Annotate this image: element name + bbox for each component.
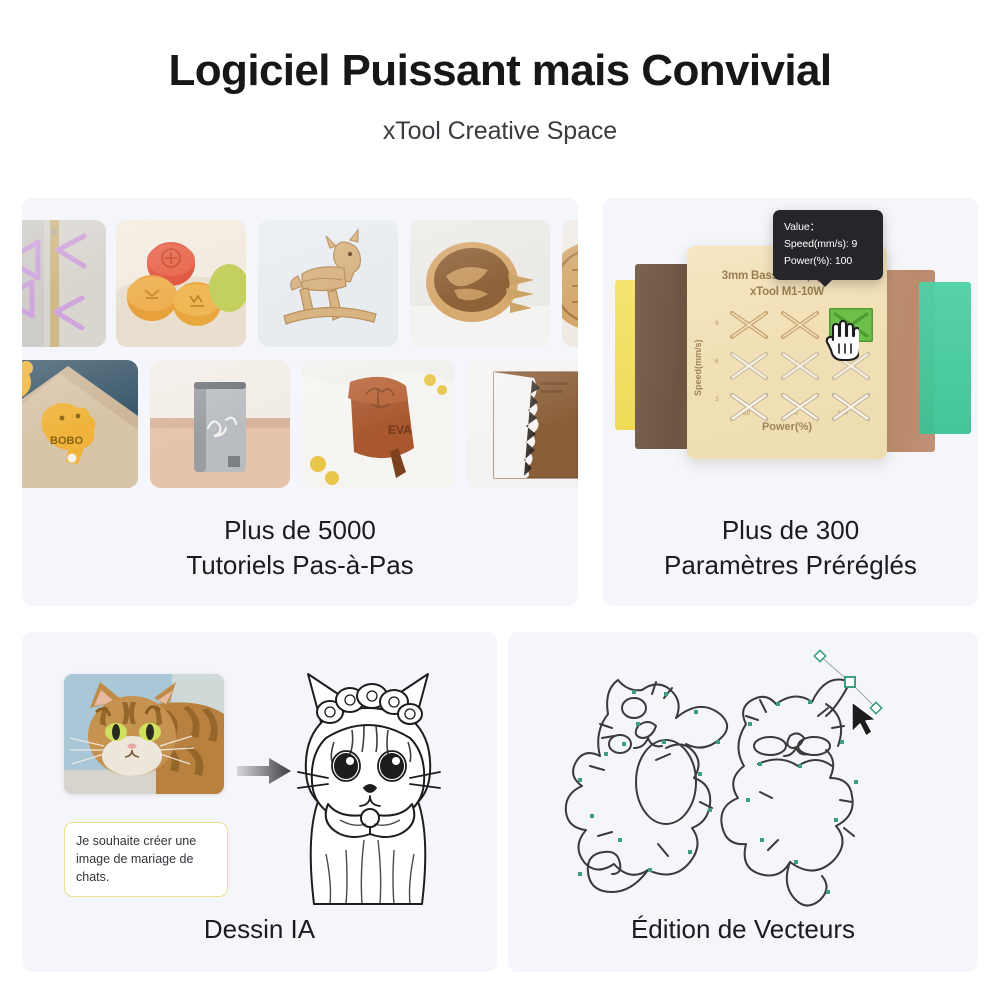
grid-cell-r1c0[interactable] — [727, 349, 771, 383]
tutorials-caption: Plus de 5000 Tutoriels Pas-à-Pas — [22, 513, 578, 582]
board-y-axis-label: Speed(mm/s) — [693, 339, 703, 396]
card-vector-editing[interactable]: Édition de Vecteurs — [508, 632, 978, 972]
board-material-line2: xTool M1-10W — [687, 284, 887, 300]
card-tutorials[interactable]: BOBO — [22, 198, 578, 606]
thumbnail-engraved-metal-lighter[interactable] — [150, 360, 290, 488]
x-pattern-icon — [727, 390, 771, 424]
presets-caption: Plus de 300 Paramètres Préréglés — [603, 513, 978, 582]
thumbnail-wooden-rocking-horse[interactable] — [258, 220, 398, 347]
tooltip-arrow-icon — [817, 279, 833, 287]
presets-caption-line2: Paramètres Préréglés — [603, 548, 978, 582]
card-ai-drawing[interactable]: Je souhaite créer une image de mariage d… — [22, 632, 497, 972]
grid-cell-r2c2[interactable] — [829, 390, 873, 424]
grid-cell-r0c1[interactable] — [778, 308, 822, 342]
feature-card-grid: BOBO — [0, 0, 1000, 1000]
tooltip-power-value: Power(%): 100 — [784, 253, 873, 270]
bezier-anchor-point[interactable] — [845, 677, 855, 687]
thumbnail-yellow-leather-dog-bobo[interactable]: BOBO — [22, 360, 138, 488]
tabby-cat-photo-image — [64, 674, 224, 794]
tutorial-thumbnail-mosaic: BOBO — [22, 220, 578, 498]
board-y-tick-0: 9 — [715, 320, 719, 327]
feature-showcase-page: Logiciel Puissant mais Convivial xTool C… — [0, 0, 1000, 1000]
tooltip-speed-value: Speed(mm/s): 9 — [784, 236, 873, 253]
two-cats-vector-outline — [508, 632, 978, 914]
card-presets[interactable]: 3mm Basswoodplywood xTool M1-10W Speed(m… — [603, 198, 978, 606]
vector-editing-stage — [508, 632, 978, 914]
x-pattern-icon — [829, 390, 873, 424]
thumbnail-leather-pouch-eva[interactable]: EVA — [302, 360, 454, 488]
thumbnail-wooden-map-plaque[interactable] — [466, 360, 578, 488]
grid-cell-r0c0[interactable] — [727, 308, 771, 342]
vector-caption: Édition de Vecteurs — [508, 912, 978, 946]
board-y-tick-1: 6 — [715, 358, 719, 365]
bezier-control-handles[interactable] — [814, 650, 881, 713]
vector-path-right-cat[interactable] — [721, 680, 854, 906]
x-pattern-icon — [727, 349, 771, 383]
material-preset-stage: 3mm Basswoodplywood xTool M1-10W Speed(m… — [603, 198, 978, 498]
line-art-bride-cat-image — [268, 654, 468, 906]
grid-cell-r2c0[interactable] — [727, 390, 771, 424]
tutorials-caption-line2: Tutoriels Pas-à-Pas — [22, 548, 578, 582]
x-pattern-icon — [778, 308, 822, 342]
ai-caption: Dessin IA — [22, 912, 497, 946]
presets-caption-line1: Plus de 300 — [603, 513, 978, 547]
hand-pointer-cursor-icon — [825, 320, 859, 362]
thumbnail-engraved-wooden-bowl[interactable] — [410, 220, 550, 347]
ai-prompt-text: Je souhaite créer une image de mariage d… — [76, 834, 196, 884]
thumbnail-purple-acrylic-ornament[interactable] — [22, 220, 106, 347]
tooltip-label: Value： — [784, 219, 873, 236]
ai-drawing-stage: Je souhaite créer une image de mariage d… — [22, 632, 497, 914]
vector-path-left-cat[interactable] — [566, 680, 727, 892]
x-pattern-icon — [727, 308, 771, 342]
x-pattern-icon — [778, 349, 822, 383]
grid-cell-r1c1[interactable] — [778, 349, 822, 383]
parameter-value-tooltip: Value： Speed(mm/s): 9 Power(%): 100 — [773, 210, 883, 280]
tutorials-caption-line1: Plus de 5000 — [22, 513, 578, 547]
x-pattern-icon — [778, 390, 822, 424]
source-cat-photo[interactable] — [64, 674, 224, 794]
ai-prompt-bubble[interactable]: Je souhaite créer une image de mariage d… — [64, 822, 228, 897]
thumbnail-engraved-wooden-coin[interactable] — [562, 220, 578, 347]
grid-cell-r2c1[interactable] — [778, 390, 822, 424]
material-swatch-green-acrylic[interactable] — [919, 282, 971, 434]
thumbnail-engraved-macarons[interactable] — [116, 220, 246, 347]
board-y-tick-2: 3 — [715, 396, 719, 403]
